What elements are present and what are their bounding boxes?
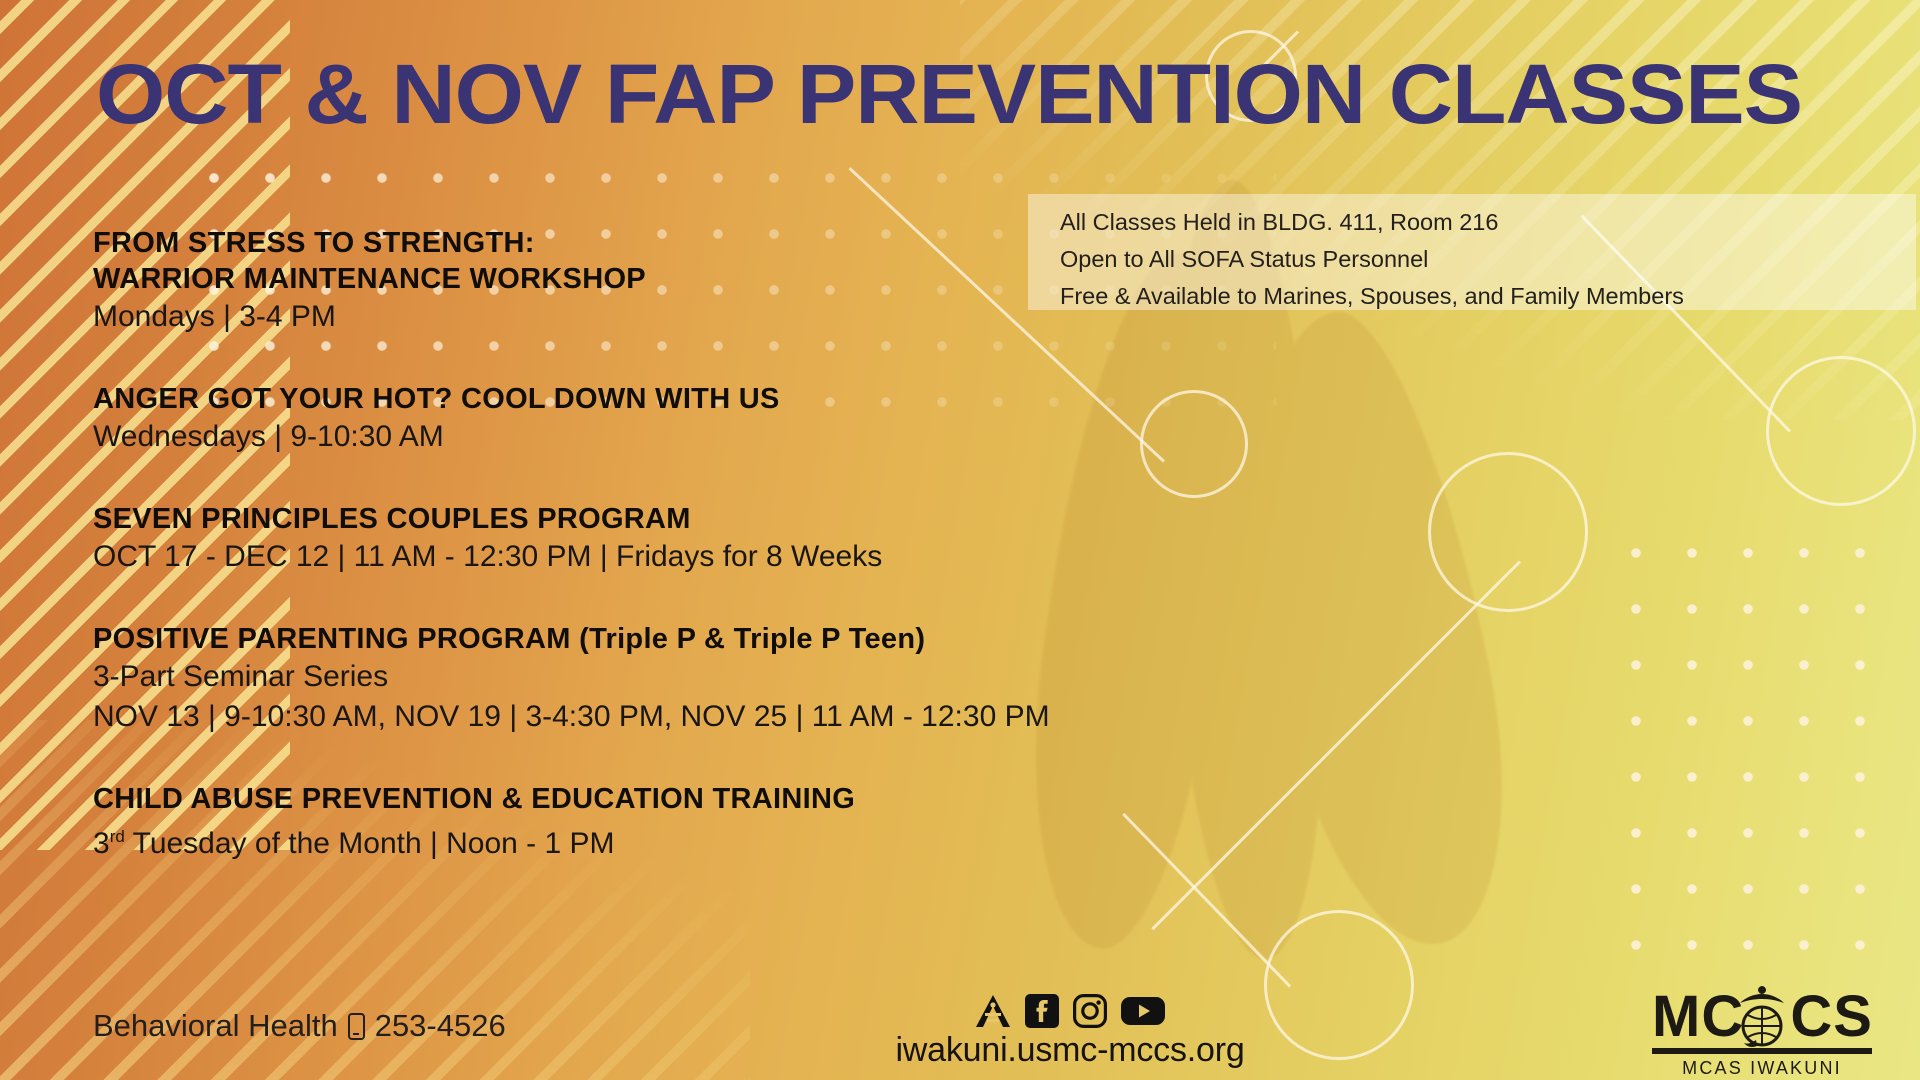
class-schedule: Mondays | 3-4 PM — [93, 297, 1343, 337]
class-title-line1: SEVEN PRINCIPLES COUPLES PROGRAM — [93, 501, 1343, 537]
class-item: ANGER GOT YOUR HOT? COOL DOWN WITH US We… — [93, 381, 1343, 457]
class-schedule: NOV 13 | 9-10:30 AM, NOV 19 | 3-4:30 PM,… — [93, 697, 1343, 737]
class-list: FROM STRESS TO STRENGTH: WARRIOR MAINTEN… — [93, 225, 1343, 864]
youtube-icon[interactable] — [1121, 995, 1165, 1027]
website-url[interactable]: iwakuni.usmc-mccs.org — [870, 1031, 1270, 1070]
behavioral-health-phone: 253-4526 — [375, 1008, 506, 1044]
class-title-line2: WARRIOR MAINTENANCE WORKSHOP — [93, 261, 1343, 297]
mobile-phone-icon — [348, 1013, 365, 1040]
class-item: CHILD ABUSE PREVENTION & EDUCATION TRAIN… — [93, 781, 1343, 864]
class-title-line1: CHILD ABUSE PREVENTION & EDUCATION TRAIN… — [93, 781, 1343, 817]
class-title-line1: POSITIVE PARENTING PROGRAM (Triple P & T… — [93, 621, 1343, 657]
mccs-mark-right: CS — [1790, 984, 1873, 1049]
class-schedule: Wednesdays | 9-10:30 AM — [93, 417, 1343, 457]
schedule-ordinal-number: 3 — [93, 827, 110, 860]
facebook-icon[interactable] — [1025, 994, 1059, 1028]
class-title-line1: ANGER GOT YOUR HOT? COOL DOWN WITH US — [93, 381, 1343, 417]
page-title: OCT & NOV FAP PREVENTION CLASSES — [96, 52, 1802, 136]
class-schedule: 3rd Tuesday of the Month | Noon - 1 PM — [93, 817, 1343, 864]
class-title-parenthetical: (Triple P & Triple P Teen) — [579, 623, 925, 655]
behavioral-health-label: Behavioral Health — [93, 1008, 338, 1044]
flyer-content: OCT & NOV FAP PREVENTION CLASSES All Cla… — [0, 0, 1920, 1080]
instagram-icon[interactable] — [1073, 994, 1107, 1028]
class-title-line1: FROM STRESS TO STRENGTH: — [93, 225, 1343, 261]
class-subtitle: 3-Part Seminar Series — [93, 657, 1343, 697]
class-schedule: OCT 17 - DEC 12 | 11 AM - 12:30 PM | Fri… — [93, 537, 1343, 577]
class-item: SEVEN PRINCIPLES COUPLES PROGRAM OCT 17 … — [93, 501, 1343, 577]
schedule-ordinal-suffix: rd — [110, 827, 125, 846]
mccs-installation-label: MCAS IWAKUNI — [1652, 1058, 1872, 1079]
behavioral-health-contact: Behavioral Health 253-4526 — [93, 1008, 506, 1044]
fap-prevention-classes-flyer: OCT & NOV FAP PREVENTION CLASSES All Cla… — [0, 0, 1920, 1080]
class-title-uppercase: POSITIVE PARENTING PROGRAM — [93, 623, 579, 655]
schedule-rest: Tuesday of the Month | Noon - 1 PM — [125, 827, 615, 860]
eagle-globe-anchor-icon — [1731, 982, 1793, 1060]
class-item: FROM STRESS TO STRENGTH: WARRIOR MAINTEN… — [93, 225, 1343, 337]
mccs-wordmark: MCOCS — [1652, 988, 1872, 1046]
mccs-logo: MCOCS MCAS IWAKUNI — [1652, 988, 1872, 1079]
social-icon-row — [870, 992, 1270, 1030]
class-item: POSITIVE PARENTING PROGRAM (Triple P & T… — [93, 621, 1343, 737]
athena-a-icon[interactable] — [975, 994, 1011, 1028]
social-and-website: iwakuni.usmc-mccs.org — [870, 992, 1270, 1070]
